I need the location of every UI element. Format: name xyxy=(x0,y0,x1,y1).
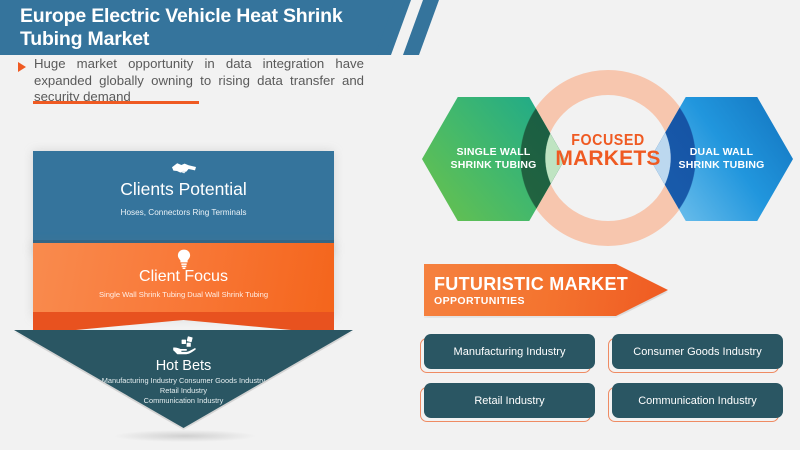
band-subtitle: Single Wall Shrink Tubing Dual Wall Shri… xyxy=(33,290,334,299)
funnel-ground-shadow xyxy=(115,430,255,442)
band-subtitle: Hoses, Connectors Ring Terminals xyxy=(33,208,334,217)
subtitle-block: Huge market opportunity in data integrat… xyxy=(18,56,378,106)
funnel-band-client-focus[interactable]: Client Focus Single Wall Shrink Tubing D… xyxy=(33,243,334,312)
focused-markets-label: FOCUSED MARKETS xyxy=(548,132,668,171)
band-title: Client Focus xyxy=(33,268,334,286)
focused-markets-line2: MARKETS xyxy=(548,147,668,171)
header-stripe-2 xyxy=(403,0,439,55)
arrow-title: FUTURISTIC MARKET xyxy=(434,274,654,295)
page-title: Europe Electric Vehicle Heat Shrink Tubi… xyxy=(20,5,370,51)
slide-canvas: Europe Electric Vehicle Heat Shrink Tubi… xyxy=(0,0,800,450)
arrow-subtitle: OPPORTUNITIES xyxy=(434,295,654,307)
funnel-band-clients-potential[interactable]: Clients Potential Hoses, Connectors Ring… xyxy=(33,151,334,240)
band-title: Clients Potential xyxy=(33,179,334,200)
triangle-right-icon xyxy=(18,62,26,72)
band-subtitle: Manufacturing Industry Consumer Goods In… xyxy=(14,376,353,406)
funnel-band-hot-bets[interactable]: Hot Bets Manufacturing Industry Consumer… xyxy=(14,330,353,428)
hexagon-dual-wall-label: DUAL WALL SHRINK TUBING xyxy=(650,97,793,221)
opportunity-box-communication[interactable]: Communication Industry xyxy=(612,383,783,418)
opportunity-box-retail[interactable]: Retail Industry xyxy=(424,383,595,418)
subtitle-text: Huge market opportunity in data integrat… xyxy=(34,56,364,106)
hand-coins-icon xyxy=(14,336,353,360)
opportunity-box-consumer-goods[interactable]: Consumer Goods Industry xyxy=(612,334,783,369)
title-underline xyxy=(33,101,199,104)
focused-markets-line1: FOCUSED xyxy=(553,132,663,150)
hexagon-single-wall-label: SINGLE WALL SHRINK TUBING xyxy=(422,97,565,221)
opportunity-box-manufacturing[interactable]: Manufacturing Industry xyxy=(424,334,595,369)
